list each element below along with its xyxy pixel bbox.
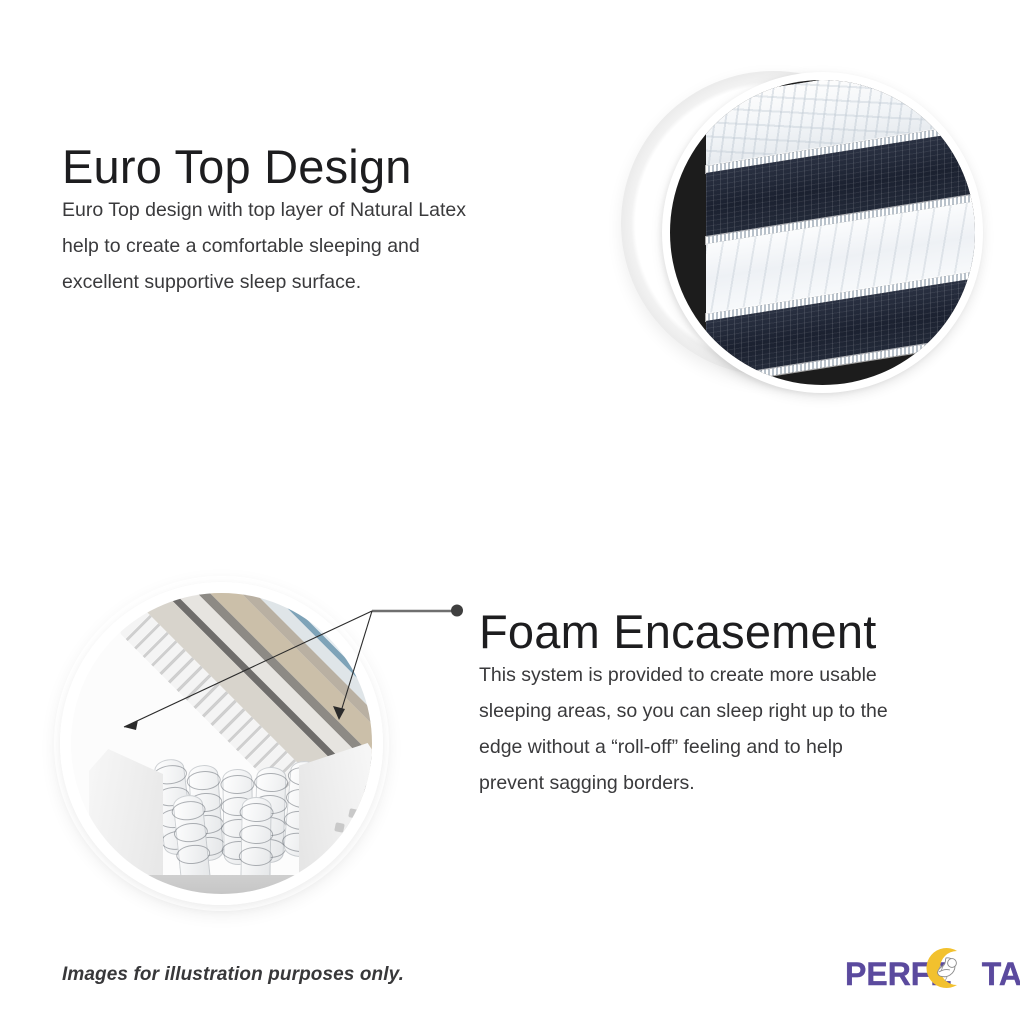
poster-root: Euro Top Design Euro Top design with top… <box>0 0 1020 1021</box>
perfecta-logo: PERFETA <box>845 950 1005 998</box>
image-dark-disc <box>670 80 975 385</box>
body-line: sleeping areas, so you can sleep right u… <box>479 693 998 729</box>
vent-hole <box>334 822 345 833</box>
foam-encasement-rail-right <box>299 743 372 894</box>
logo-text-after: TA <box>982 956 1020 992</box>
foam-encasement-rail-left <box>89 749 163 894</box>
leader-arrowhead-left <box>124 720 138 730</box>
euro-top-design-heading: Euro Top Design <box>62 143 412 190</box>
foam-encasement-body: This system is provided to create more u… <box>479 657 998 801</box>
mattress-base-platform <box>81 875 372 894</box>
leader-dot <box>451 605 463 617</box>
body-line: edge without a “roll-off” feeling and to… <box>479 729 998 765</box>
crescent-moon-sleeping-figure-icon <box>919 944 967 992</box>
foam-encasement-heading: Foam Encasement <box>479 608 876 655</box>
euro-top-design-image <box>670 80 975 385</box>
vent-hole <box>364 796 372 807</box>
body-line: excellent supportive sleep surface. <box>62 264 584 300</box>
leader-arrowhead-right <box>333 706 345 720</box>
mattress-cross-section <box>706 80 975 360</box>
body-line: prevent sagging borders. <box>479 765 998 801</box>
body-line: help to create a comfortable sleeping an… <box>62 228 584 264</box>
euro-top-design-body: Euro Top design with top layer of Natura… <box>62 192 584 300</box>
disclaimer-text: Images for illustration purposes only. <box>62 964 404 986</box>
vent-hole <box>348 808 359 819</box>
body-line: This system is provided to create more u… <box>479 657 998 693</box>
leader-branch-right <box>339 611 372 718</box>
body-line: Euro Top design with top layer of Natura… <box>62 192 584 228</box>
figure-head <box>948 959 957 968</box>
leader-line-callout <box>90 580 480 750</box>
